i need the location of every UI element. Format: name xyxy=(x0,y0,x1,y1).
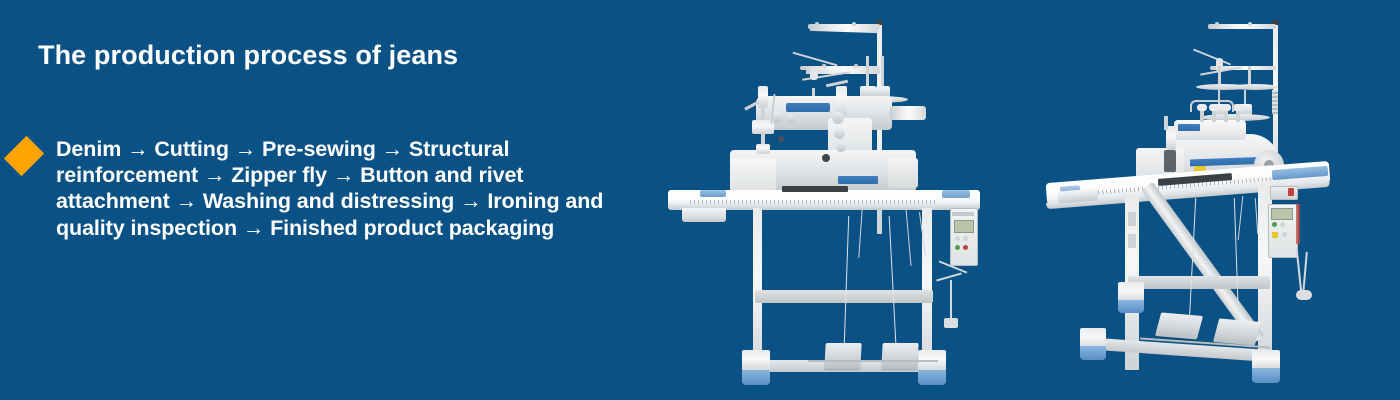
tension-disc xyxy=(772,112,783,123)
control-box-display xyxy=(1271,208,1293,220)
bullet-item: Denim → Cutting → Pre-sewing → Structura… xyxy=(8,136,608,241)
thread-tail xyxy=(1238,196,1244,240)
pole-adjuster xyxy=(1272,90,1278,114)
tension-disc xyxy=(832,112,844,124)
tension-disc xyxy=(834,128,845,139)
table-corner-accent xyxy=(700,190,726,197)
pedal-chain-right xyxy=(889,216,897,344)
stand-foot-cap-left xyxy=(1080,346,1106,360)
control-button[interactable] xyxy=(955,236,960,241)
tension-dial xyxy=(1233,104,1243,111)
control-box-vent xyxy=(952,212,974,216)
control-button[interactable] xyxy=(1280,222,1285,227)
stand-cross-brace xyxy=(1128,276,1270,289)
stand-foot-cap-right xyxy=(918,370,946,385)
thread-eyelet xyxy=(815,22,819,26)
slide-canvas: The production process of jeans Denim → … xyxy=(0,0,1400,400)
brand-plate xyxy=(786,103,830,112)
thread-eyelet xyxy=(1215,22,1219,26)
thread-tail xyxy=(905,208,911,266)
foot-pedal-left xyxy=(1155,312,1203,339)
control-button[interactable] xyxy=(1282,232,1287,237)
warning-label xyxy=(1272,232,1278,238)
control-box-side-label xyxy=(1296,204,1300,244)
top-cover-label xyxy=(1178,124,1200,131)
screw xyxy=(778,136,784,142)
stand-foot-cap-mid xyxy=(1118,300,1144,313)
carry-handle xyxy=(1190,100,1234,112)
needle-bar xyxy=(1164,116,1168,130)
power-switch[interactable] xyxy=(1288,188,1294,196)
process-flow-text: Denim → Cutting → Pre-sewing → Structura… xyxy=(56,136,608,241)
industrial-coverstitch-sewing-machine xyxy=(660,8,1020,400)
stand-foot-cap-right xyxy=(1252,368,1280,383)
machine-right-arm xyxy=(890,106,926,120)
control-button[interactable] xyxy=(963,236,968,241)
machine-bed-left-panel xyxy=(730,158,776,192)
diamond-bullet-icon xyxy=(4,136,44,176)
pedal-rod xyxy=(808,360,938,362)
spool-pin xyxy=(866,56,869,90)
cord-segment xyxy=(1296,248,1303,294)
cord-segment xyxy=(950,280,952,320)
needle-plate-cutout xyxy=(782,186,848,192)
stand-foot-cap-left xyxy=(742,370,770,385)
foot-pedal-right xyxy=(881,343,918,369)
page-title: The production process of jeans xyxy=(38,40,458,71)
machine-bed-right-panel xyxy=(888,158,918,188)
thread-tail xyxy=(858,208,862,258)
control-box-display xyxy=(954,220,974,233)
cord-loop xyxy=(1296,290,1312,300)
looper-cover xyxy=(1164,150,1176,172)
control-indicator-red xyxy=(963,245,968,250)
foot-pedal-right xyxy=(1213,318,1261,345)
tension-disc xyxy=(836,142,846,152)
table-drawer xyxy=(682,208,726,222)
stand-cross-brace xyxy=(755,290,933,303)
pedal-chain-left xyxy=(844,216,849,344)
thread-guide-wire xyxy=(793,52,838,67)
table-ruler-scale xyxy=(690,200,936,204)
table-corner-accent xyxy=(942,190,970,198)
tension-disc xyxy=(786,114,795,123)
thread-eyelet xyxy=(854,64,858,68)
presser-foot xyxy=(756,144,770,154)
leg-slot xyxy=(1128,234,1136,248)
cord-segment xyxy=(936,272,962,281)
machine-label xyxy=(838,176,878,184)
thread-eyelet xyxy=(852,22,856,26)
foot-pedal-left xyxy=(824,343,861,369)
thread-eyelet xyxy=(822,64,826,68)
cord-segment xyxy=(1302,252,1308,294)
thread-guide-hub xyxy=(810,68,818,80)
control-indicator-green xyxy=(955,245,960,250)
machine-label-top xyxy=(838,170,878,176)
leg-slot xyxy=(1128,212,1136,226)
industrial-overlock-serger-machine xyxy=(1040,8,1380,400)
needle-bar-housing xyxy=(758,86,768,108)
screw xyxy=(822,154,830,162)
thread-guide-wire xyxy=(1193,49,1231,66)
power-plug xyxy=(944,318,958,328)
spool-pin xyxy=(881,56,884,90)
stand-foot-left xyxy=(742,350,770,372)
thread-eyelet xyxy=(1248,22,1252,26)
control-indicator-green xyxy=(1272,222,1277,227)
